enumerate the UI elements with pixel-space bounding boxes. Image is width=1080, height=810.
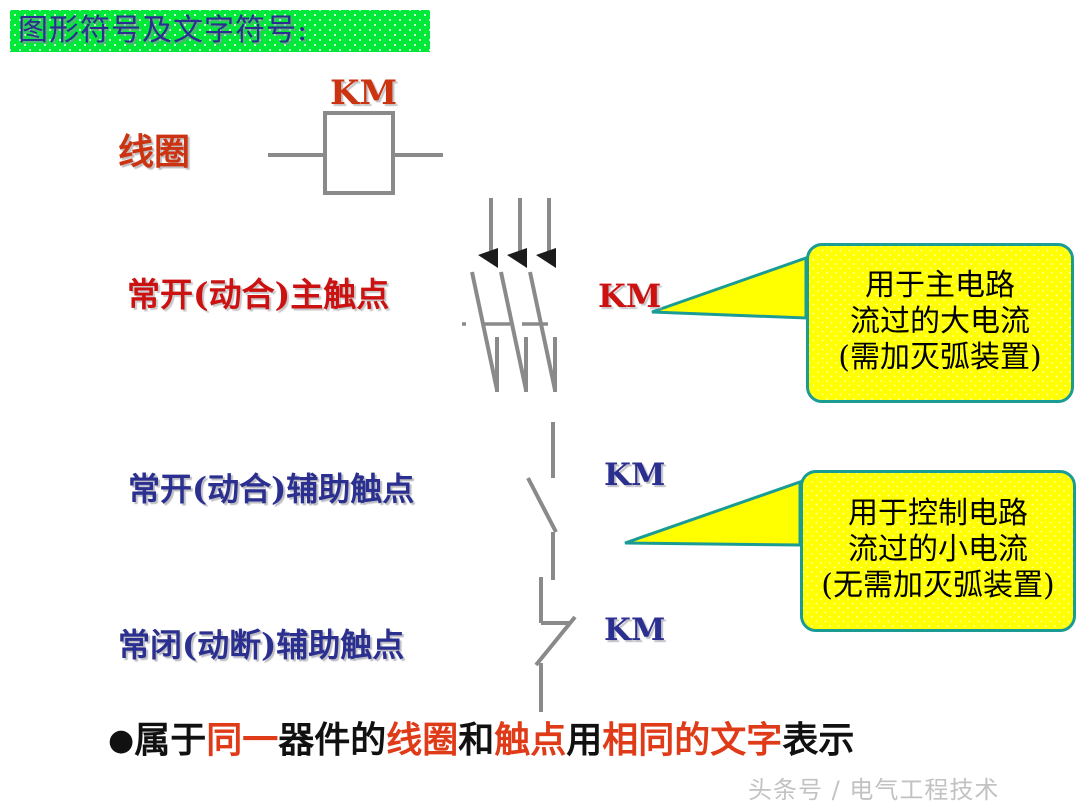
bottom-seg-7: 相同的文字: [602, 719, 782, 761]
designator-main-km: KM: [598, 280, 661, 312]
bottom-seg-0: 属于: [134, 719, 206, 761]
callout-main-line-1: 用于主电路: [819, 268, 1061, 304]
bottom-seg-5: 触点: [494, 719, 566, 761]
callout-control-line-2: 流过的小电流: [813, 532, 1063, 568]
bottom-seg-6: 用: [566, 719, 602, 761]
row-label-no-auxiliary: 常开(动合)辅助触点: [128, 473, 414, 505]
designator-no-auxiliary-km: KM: [604, 460, 665, 491]
callout-main-circuit: 用于主电路 流过的大电流 (需加灭弧装置): [806, 243, 1074, 403]
callout-control-line-1: 用于控制电路: [813, 496, 1063, 532]
designator-nc-auxiliary-km: KM: [604, 615, 665, 646]
slide-canvas: 图形符号及文字符号:: [0, 0, 1080, 810]
callout-control-circuit: 用于控制电路 流过的小电流 (无需加灭弧装置): [800, 470, 1076, 632]
watermark: 头条号 / 电气工程技术: [748, 770, 999, 805]
bottom-note: ●属于同一器件的线圈和触点用相同的文字表示: [108, 722, 854, 758]
bottom-seg-4: 和: [458, 719, 494, 761]
row-label-coil: 线圈: [118, 134, 190, 170]
no-auxiliary-contact-symbol: [528, 422, 556, 580]
nc-auxiliary-contact-symbol: [536, 577, 575, 712]
designator-coil-km: KM: [330, 76, 397, 110]
bottom-seg-2: 器件的: [278, 719, 386, 761]
row-label-nc-auxiliary: 常闭(动断)辅助触点: [118, 629, 404, 661]
main-contacts-symbol: [472, 198, 555, 392]
bottom-seg-1: 同一: [206, 719, 278, 761]
coil-symbol: [268, 113, 443, 193]
callout-main-line-3: (需加灭弧装置): [819, 340, 1061, 376]
arc-suppression-marker-icon: [478, 248, 556, 268]
callout-main-line-2: 流过的大电流: [819, 304, 1061, 340]
row-label-main-contacts: 常开(动合)主触点: [127, 278, 389, 311]
bottom-seg-3: 线圈: [386, 719, 458, 761]
callout-1-pointer: [652, 258, 806, 318]
callout-control-line-3: (无需加灭弧装置): [813, 568, 1063, 604]
bottom-seg-8: 表示: [782, 719, 854, 761]
bullet-icon: ●: [108, 723, 134, 758]
circuit-symbol-drawing: [0, 0, 1080, 810]
